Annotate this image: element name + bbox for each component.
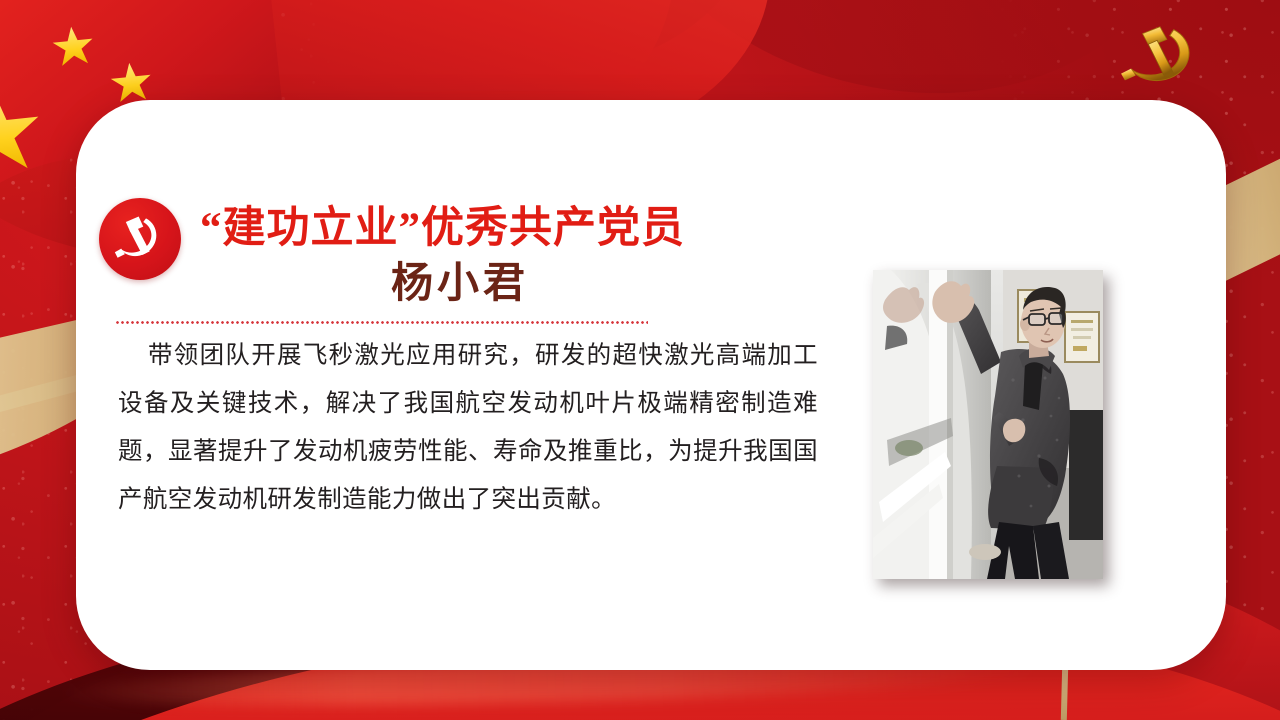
portrait-photo — [873, 270, 1103, 579]
achievement-description: 带领团队开展飞秒激光应用研究，研发的超快激光高端加工设备及关键技术，解决了我国航… — [118, 332, 818, 524]
party-emblem-badge-icon — [99, 198, 181, 280]
dotted-divider — [115, 321, 648, 324]
slide-root: “建功立业”优秀共产党员 杨小君 带领团队开展飞秒激光应用研究，研发的超快激光高… — [0, 0, 1280, 720]
person-name: 杨小君 — [200, 258, 720, 310]
page-title: “建功立业”优秀共产党员 — [200, 203, 720, 255]
hammer-sickle-gold-icon — [1113, 18, 1211, 96]
